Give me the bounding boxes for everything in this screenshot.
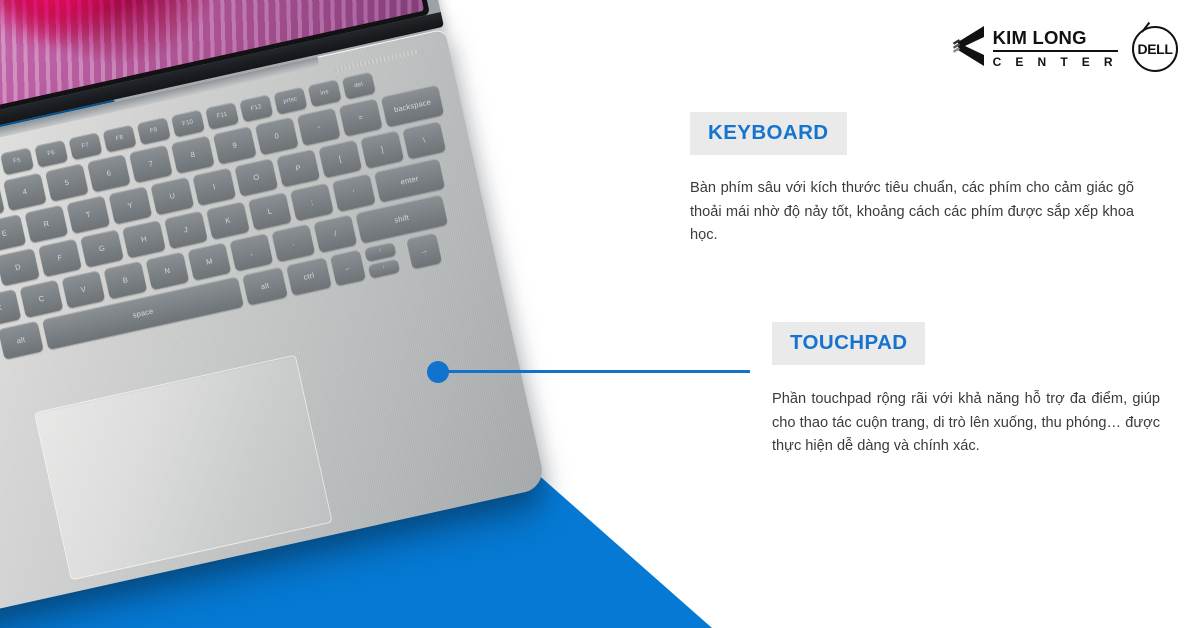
section-touchpad-body: Phần touchpad rộng rãi với khả năng hỗ t… <box>772 388 1160 459</box>
key-quote: ' <box>332 173 376 211</box>
key-f5: F5 <box>0 147 34 175</box>
key-period: . <box>271 224 315 262</box>
dell-logo: DELL <box>1132 26 1178 72</box>
key-k: K <box>206 201 250 239</box>
key-bracket-right: ] <box>360 130 404 168</box>
key-backslash: \ <box>402 121 446 159</box>
key-p: P <box>276 149 320 187</box>
dell-slash-icon <box>1141 21 1150 32</box>
kim-long-center-wordmark: KIM LONG C E N T E R <box>993 29 1118 69</box>
key-insert: ins <box>308 79 342 107</box>
key-5: 5 <box>45 163 89 201</box>
section-touchpad-label: TOUCHPAD <box>772 322 925 365</box>
key-4: 4 <box>3 173 47 211</box>
key-slash: / <box>313 214 357 252</box>
key-m: M <box>187 242 231 280</box>
key-f7: F7 <box>68 132 102 160</box>
key-j: J <box>164 211 208 249</box>
key-d: D <box>0 248 40 286</box>
key-prtsc: prtsc <box>273 87 307 115</box>
key-n: N <box>145 252 189 290</box>
key-arrow-left: ← <box>330 249 366 286</box>
kim-long-center-logo: KIM LONG C E N T E R <box>952 24 1118 73</box>
key-0: 0 <box>255 117 299 155</box>
key-t: T <box>66 195 110 233</box>
key-f9: F9 <box>137 117 171 145</box>
laptop-base: esc F1 F2 F3 F4 F5 F6 F7 F8 F9 F10 F11 F… <box>0 29 546 628</box>
key-h: H <box>122 220 166 258</box>
key-r: R <box>24 205 68 243</box>
dell-wordmark: DELL <box>1138 41 1173 57</box>
key-x: X <box>0 289 21 327</box>
section-keyboard: KEYBOARD Bàn phím sâu với kích thước tiê… <box>690 112 1134 248</box>
key-semicolon: ; <box>290 183 334 221</box>
key-b: B <box>103 261 147 299</box>
key-i: I <box>192 167 236 205</box>
key-8: 8 <box>171 135 215 173</box>
key-6: 6 <box>87 154 131 192</box>
chevron-mark-icon <box>952 24 986 73</box>
callout-dot-touchpad <box>427 361 449 383</box>
key-f10: F10 <box>171 109 205 137</box>
key-f11: F11 <box>205 102 239 130</box>
key-e: E <box>0 214 26 252</box>
key-equals: = <box>339 98 383 136</box>
logo-group: KIM LONG C E N T E R DELL <box>952 24 1178 73</box>
key-f6: F6 <box>34 140 68 168</box>
kim-long-text: KIM LONG <box>993 29 1118 51</box>
key-bracket-left: [ <box>318 139 362 177</box>
key-u: U <box>150 177 194 215</box>
key-l: L <box>248 192 292 230</box>
key-9: 9 <box>213 126 257 164</box>
center-text: C E N T E R <box>993 52 1118 68</box>
key-f: F <box>38 238 82 276</box>
key-minus: - <box>297 107 341 145</box>
key-comma: , <box>229 233 273 271</box>
callout-leader-line <box>438 370 750 373</box>
poster-canvas: esc F1 F2 F3 F4 F5 F6 F7 F8 F9 F10 F11 F… <box>0 0 1200 628</box>
key-delete: del <box>342 71 376 99</box>
key-f12: F12 <box>239 94 273 122</box>
key-c: C <box>20 279 64 317</box>
key-7: 7 <box>129 145 173 183</box>
section-keyboard-label: KEYBOARD <box>690 112 847 155</box>
section-touchpad: TOUCHPAD Phần touchpad rộng rãi với khả … <box>772 322 1160 459</box>
key-v: V <box>61 270 105 308</box>
key-g: G <box>80 229 124 267</box>
section-keyboard-body: Bàn phím sâu với kích thước tiêu chuẩn, … <box>690 177 1134 248</box>
key-arrow-right: → <box>406 232 442 269</box>
key-o: O <box>234 158 278 196</box>
key-f8: F8 <box>103 125 137 153</box>
key-y: Y <box>108 186 152 224</box>
